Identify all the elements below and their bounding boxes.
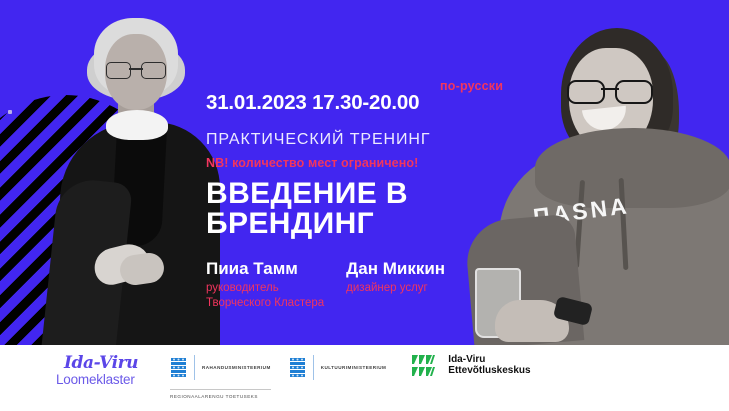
ministry-row: RAHANDUSMINISTEERIUM: [170, 355, 271, 380]
ministry-rule: [170, 389, 271, 390]
ministry-note: REGIONAALARENGU TOETUSEKS: [170, 394, 271, 399]
speaker-role: дизайнер услуг: [346, 281, 445, 297]
logo-ida-viru-ettevotluskeskus: Ida-Viru Ettevõtluskeskus: [412, 355, 530, 377]
estonia-crest-icon: [289, 356, 306, 380]
left-speaker-glasses-icon: [106, 62, 166, 77]
speaker-name: Пииа Тамм: [206, 260, 324, 279]
speaker-item: Дан Миккин дизайнер услуг: [346, 260, 445, 312]
headline-line-1: ВВЕДЕНИЕ В: [206, 177, 408, 210]
speaker-role-line-2: Творческого Кластера: [206, 296, 324, 312]
logo-divider: [194, 355, 195, 380]
right-speaker-hood: [535, 128, 729, 208]
ministry-name: KULTUURIMINISTEERIUM: [321, 365, 387, 370]
event-datetime: 31.01.2023 17.30-20.00: [206, 92, 506, 114]
loomeklaster-subtext: Loomeklaster: [56, 373, 154, 387]
event-headline: ВВЕДЕНИЕ В БРЕНДИНГ: [206, 179, 506, 239]
ministry-row: KULTUURIMINISTEERIUM: [289, 355, 387, 380]
limited-seats-notice: NB! количество мест ограничено!: [206, 156, 506, 170]
sponsor-footer: Ida-Viru Loomeklaster: [0, 345, 729, 411]
estonia-crest-icon: [170, 356, 187, 380]
arrows-mark-icon: [412, 355, 442, 377]
ministry-name: RAHANDUSMINISTEERIUM: [202, 365, 271, 370]
logo-ida-viru-loomeklaster: Ida-Viru Loomeklaster: [56, 355, 154, 387]
poster-text-block: 31.01.2023 17.30-20.00 ПРАКТИЧЕСКИЙ ТРЕН…: [206, 92, 506, 239]
logo-kultuuriministeerium: KULTUURIMINISTEERIUM: [289, 355, 387, 380]
language-badge: по-русски: [440, 79, 503, 93]
ettevotluskeskus-line-2: Ettevõtluskeskus: [448, 366, 530, 377]
logo-divider: [313, 355, 314, 380]
logo-rahandusministeerium: RAHANDUSMINISTEERIUM REGIONAALARENGU TOE…: [170, 355, 271, 399]
left-speaker-collar: [106, 110, 168, 140]
speaker-item: Пииа Тамм руководитель Творческого Класт…: [206, 260, 324, 312]
speaker-name: Дан Миккин: [346, 260, 445, 279]
dot-decoration: [8, 110, 12, 114]
speaker-photo-left: [42, 10, 227, 345]
event-subtitle: ПРАКТИЧЕСКИЙ ТРЕНИНГ: [206, 131, 506, 149]
poster-artwork-stage: ПASNA по-русски 31.01.2023 17.30-20.00 П…: [0, 0, 729, 345]
loomeklaster-script-text: Ida-Viru: [64, 355, 154, 372]
speakers-list: Пииа Тамм руководитель Творческого Класт…: [206, 260, 526, 312]
speaker-role-line-1: руководитель: [206, 282, 279, 294]
sponsor-logo-row: Ida-Viru Loomeklaster: [0, 345, 531, 399]
speaker-role-line-1: дизайнер услуг: [346, 282, 428, 294]
ettevotluskeskus-text: Ida-Viru Ettevõtluskeskus: [448, 355, 530, 377]
speaker-role: руководитель Творческого Кластера: [206, 281, 324, 312]
right-speaker-glasses-icon: [567, 80, 653, 100]
event-poster: ПASNA по-русски 31.01.2023 17.30-20.00 П…: [0, 0, 729, 411]
headline-line-2: БРЕНДИНГ: [206, 209, 506, 239]
